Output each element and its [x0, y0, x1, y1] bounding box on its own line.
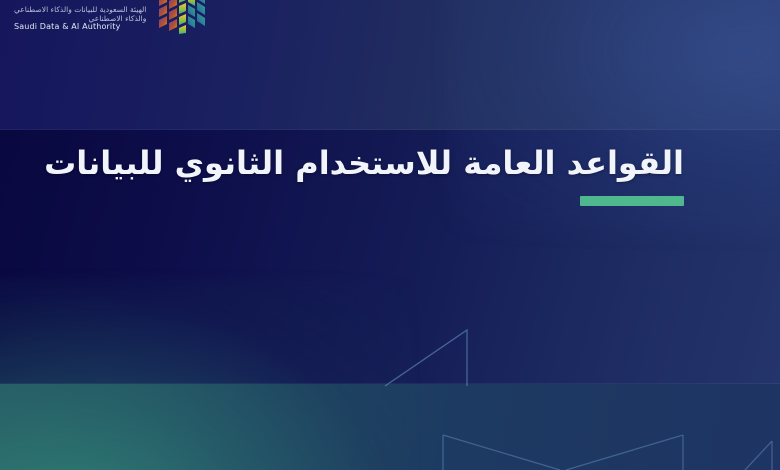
- sdaia-triangular-prism-icon: [155, 0, 211, 34]
- title-accent-bar: [580, 196, 684, 206]
- cover-page: الهيئة السعودية للبيانات والذكاء الاصطنا…: [0, 0, 780, 470]
- background-glow-teal: [0, 280, 410, 470]
- page-title: القواعد العامة للاستخدام الثانوي للبيانا…: [44, 143, 684, 184]
- sdaia-logo-text: الهيئة السعودية للبيانات والذكاء الاصطنا…: [14, 6, 146, 34]
- title-block: القواعد العامة للاستخدام الثانوي للبيانا…: [44, 143, 684, 206]
- logo-arabic-line-2: والذكاء الاصطناعي: [14, 15, 146, 23]
- sdaia-logo: الهيئة السعودية للبيانات والذكاء الاصطنا…: [14, 0, 211, 34]
- band-seam-lower: [0, 383, 780, 384]
- band-seam-upper: [0, 129, 780, 130]
- logo-english-line: Saudi Data & AI Authority: [14, 23, 146, 31]
- logo-arabic-line-1: الهيئة السعودية للبيانات والذكاء الاصطنا…: [14, 6, 146, 14]
